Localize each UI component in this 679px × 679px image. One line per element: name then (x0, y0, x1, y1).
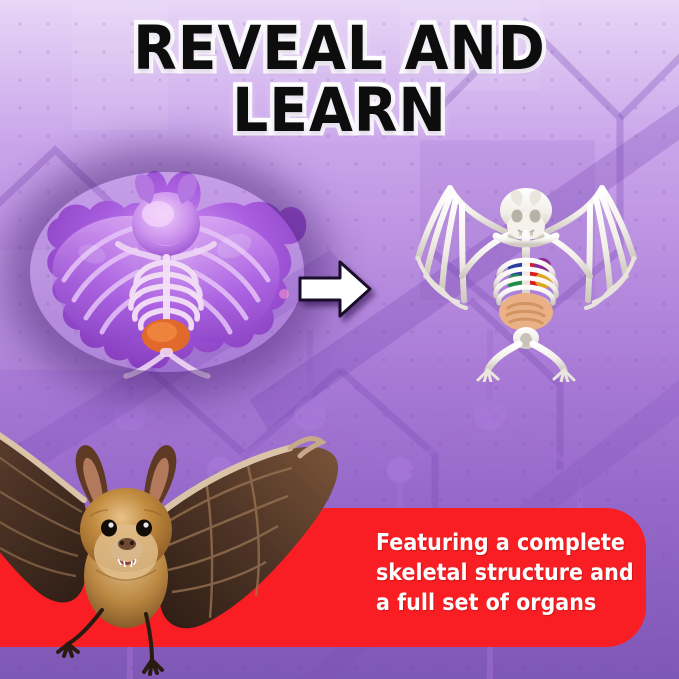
banner-line-1: Featuring a complete (376, 527, 610, 557)
banner-line-2: skeletal structure and (376, 557, 610, 587)
banner-line-3: a full set of organs (376, 587, 610, 617)
flying-bat-graphic (0, 384, 386, 679)
skeleton-model-image (392, 172, 660, 382)
toy-glow (30, 172, 304, 372)
feature-banner-text: Featuring a complete skeletal structure … (376, 527, 610, 617)
title-container: REVEAL AND LEARN (0, 18, 679, 142)
product-toy-image (22, 158, 312, 383)
page-title: REVEAL AND LEARN (24, 18, 655, 142)
arrow-right-icon (296, 258, 374, 325)
product-poster: REVEAL AND LEARN (0, 0, 679, 679)
real-bat-photo (0, 384, 386, 679)
bat-skeleton-graphic (392, 172, 660, 382)
